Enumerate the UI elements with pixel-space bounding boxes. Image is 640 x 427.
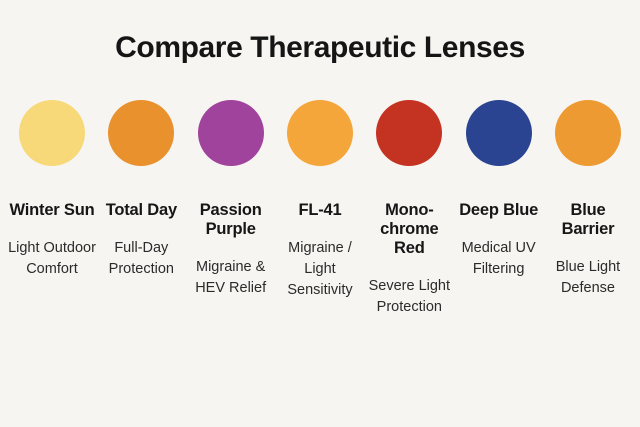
lens-swatch-blue-barrier[interactable] (555, 100, 621, 166)
lens-name: Mono-chrome Red (363, 201, 455, 258)
lens-name: Blue Barrier (542, 201, 634, 239)
lens-name: FL-41 (274, 201, 366, 220)
lens-description: Medical UV Filtering (453, 238, 545, 280)
lens-name: Winter Sun (6, 201, 98, 220)
lens-swatch-deep-blue[interactable] (466, 100, 532, 166)
lens-description: Migraine & HEV Relief (185, 257, 277, 299)
lens-card[interactable]: FL-41 Migraine / Light Sensitivity (278, 100, 362, 301)
lens-swatch-fl-41[interactable] (287, 100, 353, 166)
lens-name: Total Day (95, 201, 187, 220)
lens-swatch-monochrome-red[interactable] (376, 100, 442, 166)
lens-card[interactable]: Winter Sun Light Outdoor Comfort (10, 100, 94, 280)
lens-swatch-passion-purple[interactable] (198, 100, 264, 166)
lens-name: Passion Purple (185, 201, 277, 239)
lens-card[interactable]: Passion Purple Migraine & HEV Relief (189, 100, 273, 299)
lens-card[interactable]: Deep Blue Medical UV Filtering (457, 100, 541, 280)
lens-description: Migraine / Light Sensitivity (274, 238, 366, 301)
lens-card[interactable]: Blue Barrier Blue Light Defense (546, 100, 630, 299)
lens-name: Deep Blue (453, 201, 545, 220)
lens-description: Severe Light Protection (363, 276, 455, 318)
lens-card[interactable]: Mono-chrome Red Severe Light Protection (367, 100, 451, 318)
lens-comparison-page: Compare Therapeutic Lenses Winter Sun Li… (0, 0, 640, 427)
lens-description: Light Outdoor Comfort (6, 238, 98, 280)
lens-description: Full-Day Protection (95, 238, 187, 280)
page-title: Compare Therapeutic Lenses (0, 28, 640, 68)
lens-swatch-winter-sun[interactable] (19, 100, 85, 166)
lens-description: Blue Light Defense (542, 257, 634, 299)
lens-card[interactable]: Total Day Full-Day Protection (99, 100, 183, 280)
lens-grid: Winter Sun Light Outdoor Comfort Total D… (10, 100, 630, 318)
lens-swatch-total-day[interactable] (108, 100, 174, 166)
